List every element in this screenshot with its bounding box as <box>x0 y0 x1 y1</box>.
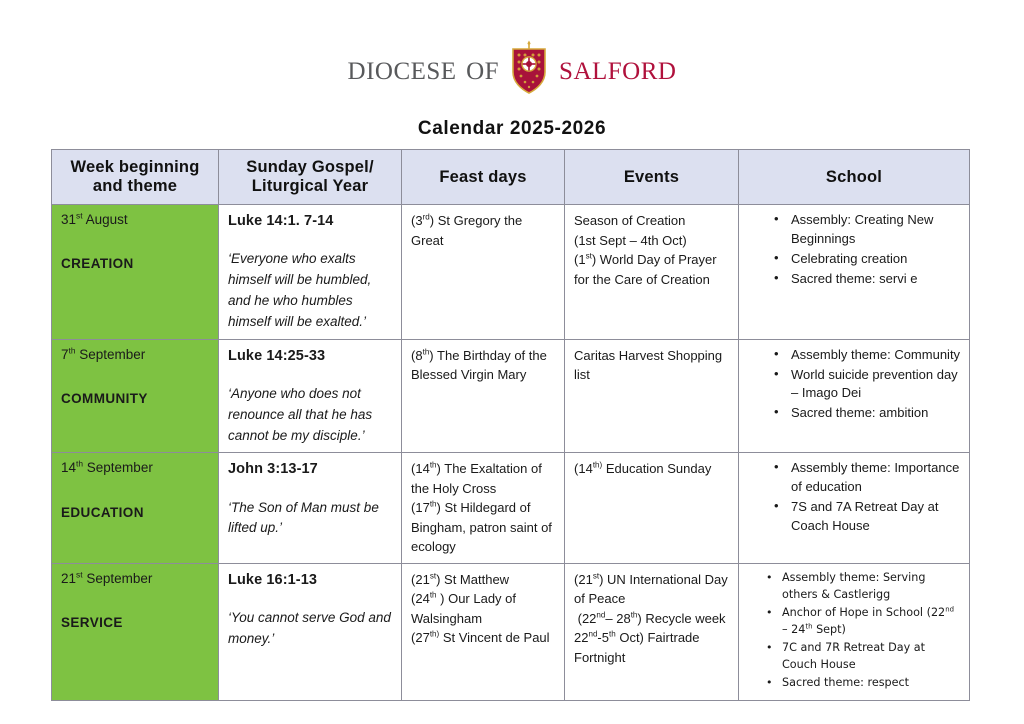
ordinal-suffix: th <box>430 500 437 509</box>
events-cell: Caritas Harvest Shopping list <box>565 339 739 453</box>
gospel-quote: ‘The Son of Man must be lifted up.’ <box>228 498 393 540</box>
week-theme: EDUCATION <box>61 504 210 522</box>
week-date: 7th September <box>61 347 145 362</box>
list-item: Sacred theme: servi e <box>774 270 961 289</box>
ordinal-suffix: st <box>593 572 599 581</box>
feast-cell: (14th) The Exaltation of the Holy Cross … <box>402 453 565 564</box>
page-title: Calendar 2025-2026 <box>0 118 1024 140</box>
masthead: Diocese of <box>0 0 1024 94</box>
week-theme: COMMUNITY <box>61 390 210 408</box>
events-cell: Season of Creation (1st Sept – 4th Oct) … <box>565 205 739 340</box>
gospel-cell: Luke 16:1-13 ‘You cannot serve God and m… <box>219 563 402 700</box>
ordinal-suffix: th) <box>430 630 439 639</box>
feast-item: (3rd) St Gregory the Great <box>411 211 556 250</box>
school-bullet-list: Assembly theme: Serving others & Castler… <box>748 570 961 692</box>
school-bullet-list: Assembly theme: Importance of education … <box>748 459 961 535</box>
diocese-logo: Diocese of <box>348 40 677 94</box>
week-date: 21st September <box>61 571 152 586</box>
column-header-school: School <box>739 150 970 205</box>
school-cell: Assembly: Creating New Beginnings Celebr… <box>739 205 970 340</box>
table-row: 7th September COMMUNITY Luke 14:25-33 ‘A… <box>52 339 970 453</box>
gospel-cell: John 3:13-17 ‘The Son of Man must be lif… <box>219 453 402 564</box>
gospel-reference: Luke 14:1. 7-14 <box>228 211 393 232</box>
week-theme: CREATION <box>61 255 210 273</box>
ordinal-suffix: th <box>805 622 812 630</box>
week-date: 14th September <box>61 460 153 475</box>
feast-cell: (3rd) St Gregory the Great <box>402 205 565 340</box>
list-item: Assembly: Creating New Beginnings <box>774 211 961 249</box>
calendar-table-container: Week beginning and theme Sunday Gospel/ … <box>51 149 969 701</box>
ordinal-suffix: rd <box>423 213 430 222</box>
gospel-cell: Luke 14:25-33 ‘Anyone who does not renou… <box>219 339 402 453</box>
gospel-reference: Luke 14:25-33 <box>228 346 393 367</box>
event-item: (1st) World Day of Prayer <box>574 250 730 270</box>
gospel-reference: John 3:13-17 <box>228 459 393 480</box>
column-header-gospel: Sunday Gospel/ Liturgical Year <box>219 150 402 205</box>
column-header-week: Week beginning and theme <box>52 150 219 205</box>
school-cell: Assembly theme: Importance of education … <box>739 453 970 564</box>
ordinal-suffix: st <box>76 569 83 579</box>
event-item: Season of Creation <box>574 211 730 231</box>
column-header-feast: Feast days <box>402 150 565 205</box>
table-body: 31st August CREATION Luke 14:1. 7-14 ‘Ev… <box>52 205 970 701</box>
ordinal-suffix: st <box>430 572 436 581</box>
ordinal-suffix: th <box>76 459 83 469</box>
feast-cell: (21st) St Matthew (24th ) Our Lady of Wa… <box>402 563 565 700</box>
events-cell: (21st) UN International Day of Peace (22… <box>565 563 739 700</box>
ordinal-suffix: th <box>430 591 437 600</box>
week-theme: SERVICE <box>61 614 210 632</box>
feast-item: (14th) The Exaltation of the Holy Cross <box>411 459 556 498</box>
week-cell: 7th September COMMUNITY <box>52 339 219 453</box>
ordinal-suffix: th <box>69 345 76 355</box>
gospel-quote: ‘Everyone who exalts himself will be hum… <box>228 249 393 333</box>
table-row: 31st August CREATION Luke 14:1. 7-14 ‘Ev… <box>52 205 970 340</box>
list-item: Celebrating creation <box>774 250 961 269</box>
list-item: 7C and 7R Retreat Day at Couch House <box>766 640 961 673</box>
crest-icon <box>509 40 549 94</box>
column-header-events: Events <box>565 150 739 205</box>
column-header-gospel-line1: Sunday Gospel/ <box>246 158 374 176</box>
table-header-row: Week beginning and theme Sunday Gospel/ … <box>52 150 970 205</box>
list-item: World suicide prevention day – Imago Dei <box>774 366 961 404</box>
school-cell: Assembly theme: Serving others & Castler… <box>739 563 970 700</box>
gospel-reference: Luke 16:1-13 <box>228 570 393 591</box>
feast-item: (21st) St Matthew <box>411 570 556 590</box>
list-item: 7S and 7A Retreat Day at Coach House <box>774 498 961 536</box>
list-item: Sacred theme: ambition <box>774 404 961 423</box>
ordinal-suffix: th <box>631 611 638 620</box>
event-item: (14th) Education Sunday <box>574 459 730 479</box>
logo-text-diocese: Diocese of <box>348 49 500 85</box>
ordinal-suffix: th <box>609 630 616 639</box>
logo-text-salford: Salford <box>559 49 676 85</box>
event-item: (1st Sept – 4th Oct) <box>574 231 730 251</box>
feast-cell: (8th) The Birthday of the Blessed Virgin… <box>402 339 565 453</box>
feast-item: (8th) The Birthday of the Blessed Virgin… <box>411 346 556 385</box>
list-item: Sacred theme: respect <box>766 675 961 692</box>
ordinal-suffix: st <box>586 252 592 261</box>
gospel-cell: Luke 14:1. 7-14 ‘Everyone who exalts him… <box>219 205 402 340</box>
column-header-week-line1: Week beginning <box>70 158 199 176</box>
table-header: Week beginning and theme Sunday Gospel/ … <box>52 150 970 205</box>
gospel-quote: ‘You cannot serve God and money.’ <box>228 608 393 650</box>
gospel-quote: ‘Anyone who does not renounce all that h… <box>228 384 393 447</box>
week-cell: 21st September SERVICE <box>52 563 219 700</box>
ordinal-suffix: th <box>423 347 430 356</box>
event-item: (22nd– 28th) Recycle week <box>574 609 730 629</box>
week-date: 31st August <box>61 212 128 227</box>
event-item: for the Care of Creation <box>574 270 730 290</box>
ordinal-suffix: th) <box>593 461 602 470</box>
list-item: Assembly theme: Importance of education <box>774 459 961 497</box>
column-header-week-line2: and theme <box>93 177 177 195</box>
feast-item: (17th) St Hildegard of Bingham, patron s… <box>411 498 556 557</box>
table-row: 14th September EDUCATION John 3:13-17 ‘T… <box>52 453 970 564</box>
feast-item: (27th) St Vincent de Paul <box>411 628 556 648</box>
ordinal-suffix: st <box>76 211 83 221</box>
event-item: (21st) UN International Day of Peace <box>574 570 730 609</box>
list-item: Assembly theme: Serving others & Castler… <box>766 570 961 603</box>
school-cell: Assembly theme: Community World suicide … <box>739 339 970 453</box>
events-cell: (14th) Education Sunday <box>565 453 739 564</box>
event-item: Caritas Harvest Shopping list <box>574 346 730 385</box>
week-cell: 31st August CREATION <box>52 205 219 340</box>
feast-item: (24th ) Our Lady of Walsingham <box>411 589 556 628</box>
event-item: 22nd-5th Oct) Fairtrade Fortnight <box>574 628 730 667</box>
table-row: 21st September SERVICE Luke 16:1-13 ‘You… <box>52 563 970 700</box>
school-bullet-list: Assembly theme: Community World suicide … <box>748 346 961 423</box>
list-item: Assembly theme: Community <box>774 346 961 365</box>
school-bullet-list: Assembly: Creating New Beginnings Celebr… <box>748 211 961 288</box>
ordinal-suffix: th <box>430 461 437 470</box>
week-cell: 14th September EDUCATION <box>52 453 219 564</box>
ordinal-suffix: nd <box>945 605 954 613</box>
calendar-table: Week beginning and theme Sunday Gospel/ … <box>51 149 970 701</box>
list-item: Anchor of Hope in School (22nd – 24th Se… <box>766 605 961 638</box>
column-header-gospel-line2: Liturgical Year <box>252 177 368 195</box>
